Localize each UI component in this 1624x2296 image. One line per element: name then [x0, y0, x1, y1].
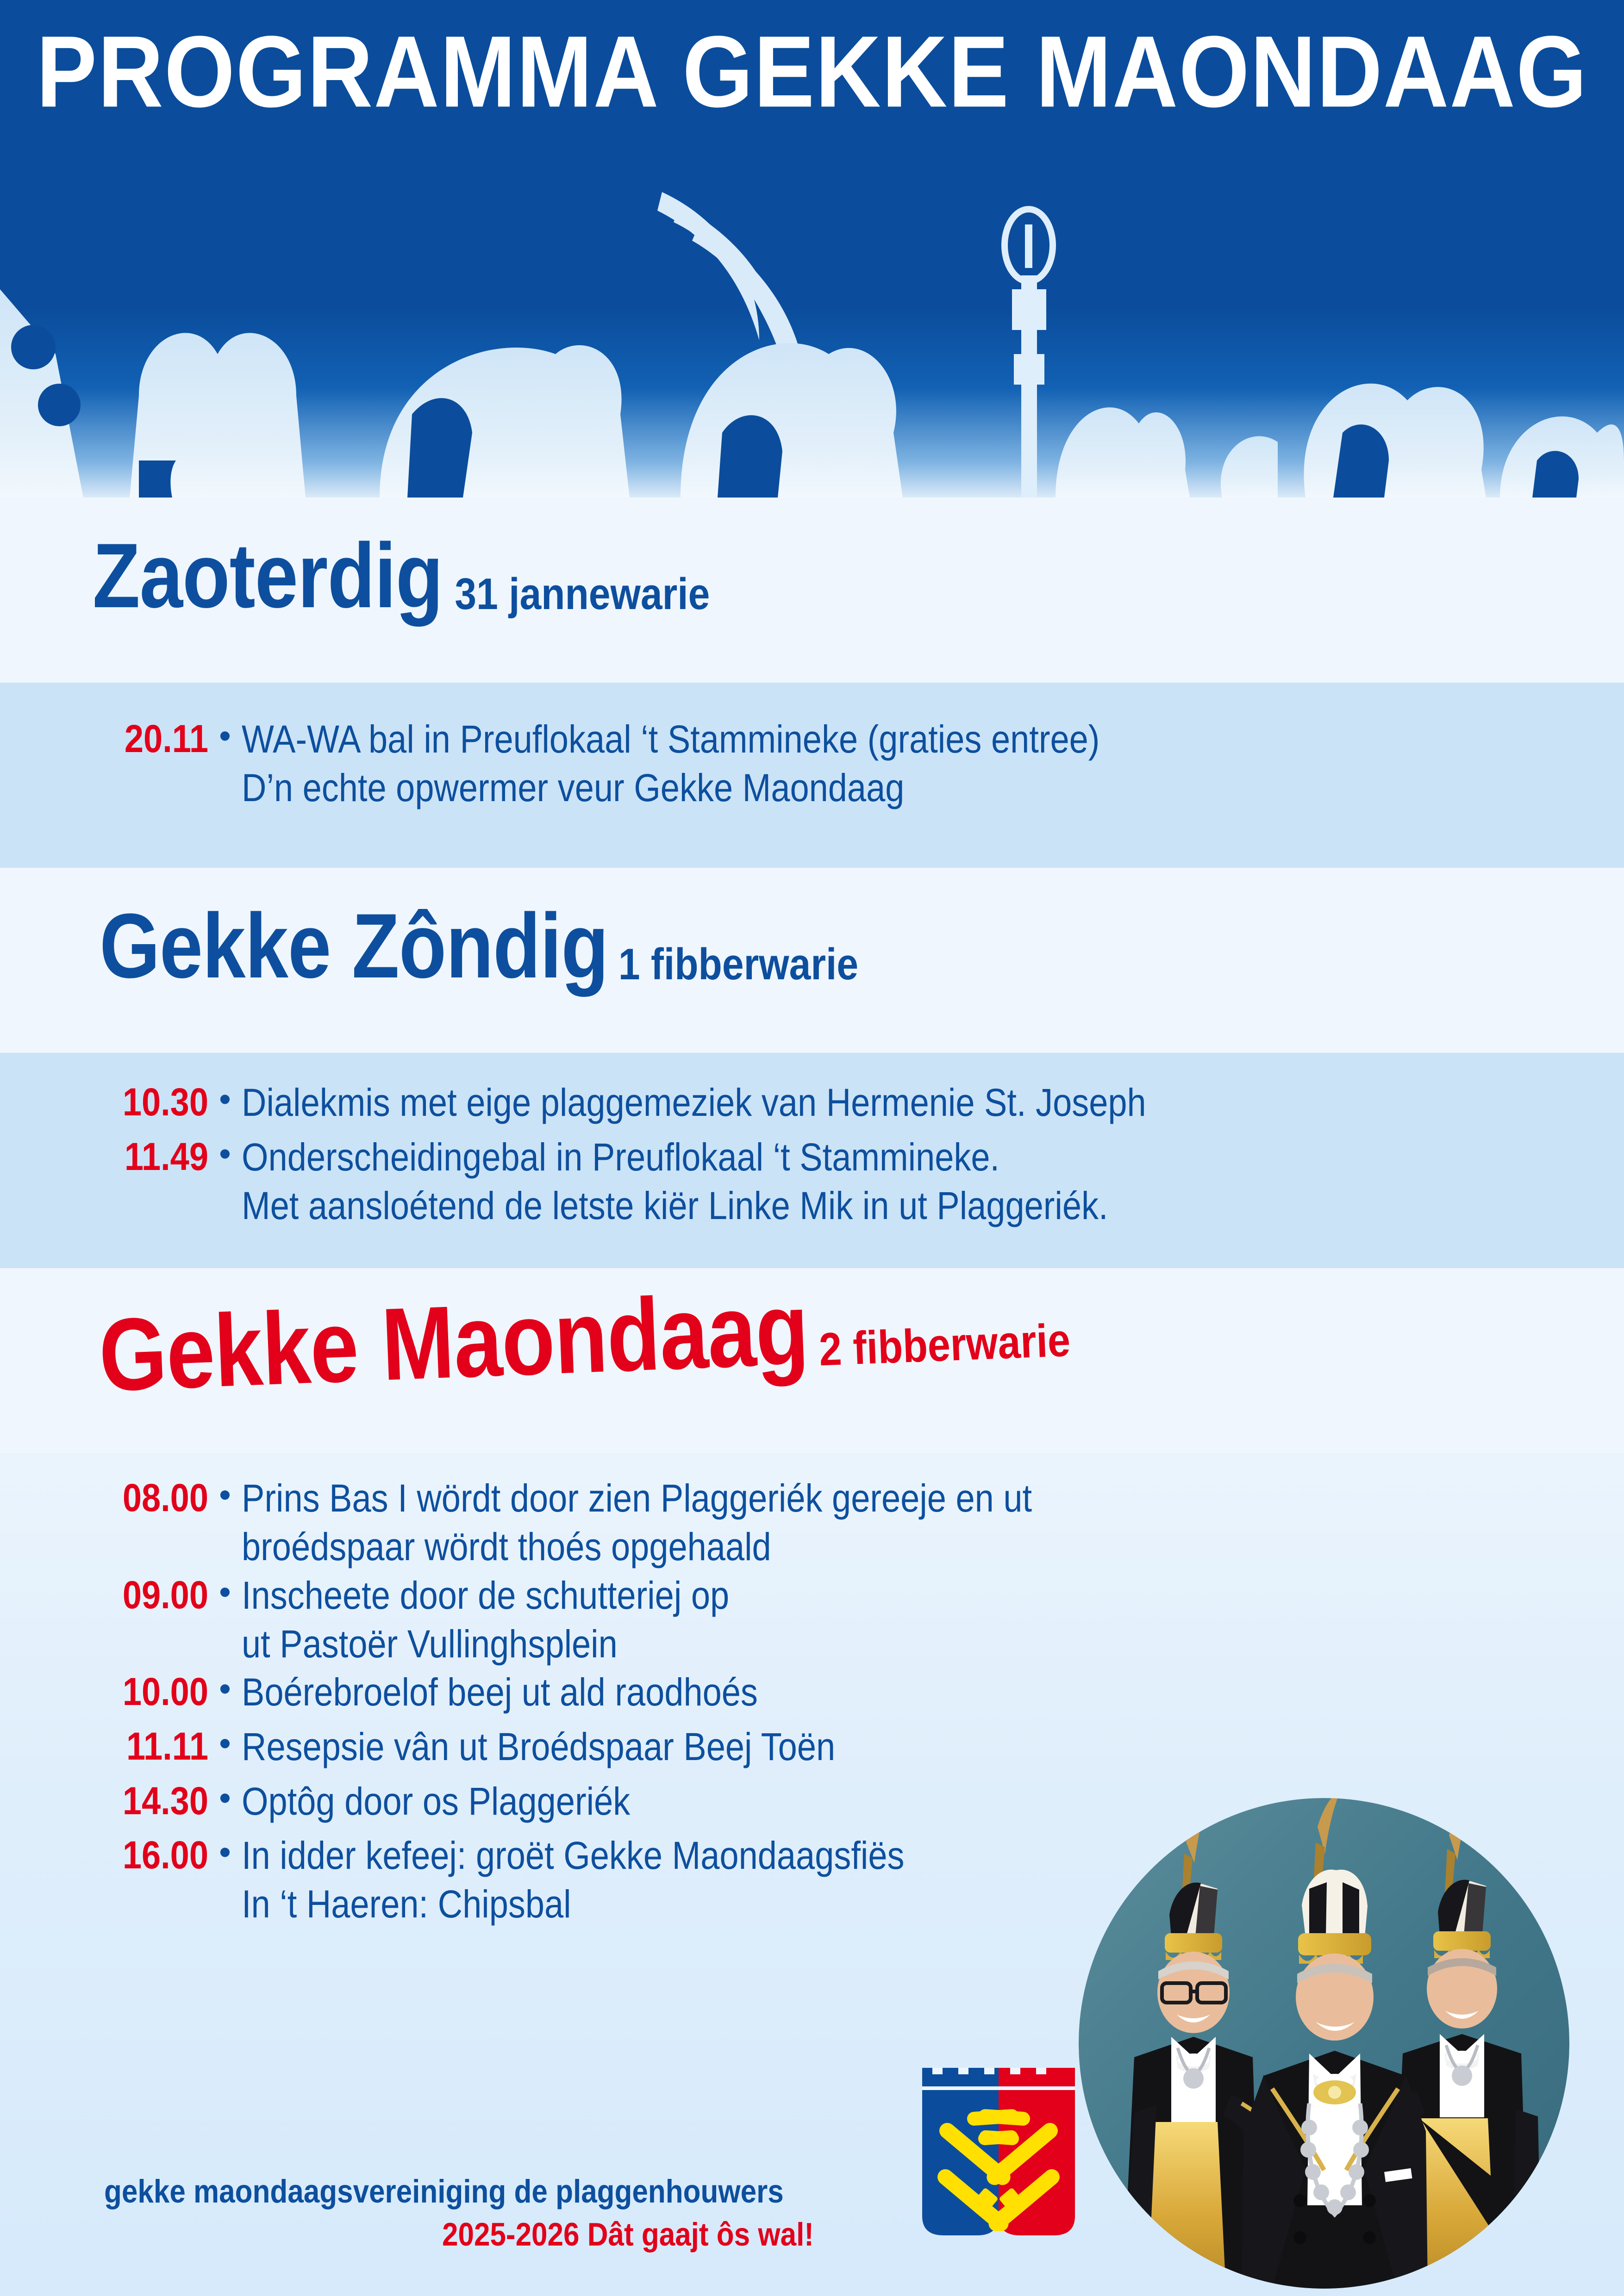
- event-line: broédspaar wördt thoés opgehaald: [242, 1523, 1032, 1571]
- season-slogan: 2025-2026 Dât gaajt ôs wal!: [442, 2216, 814, 2253]
- events-maondaag: 08.00 • Prins Bas I wördt door zien Plag…: [93, 1474, 1032, 1929]
- plaggenhouwers-coat-of-arms: [922, 2068, 1075, 2244]
- prince-trio-illustration: [1079, 1798, 1569, 2289]
- carnival-hats-silhouette-icon: [0, 137, 1624, 498]
- event-time: 16.00: [93, 1831, 208, 1879]
- section-date: 1 fibberwarie: [618, 939, 858, 990]
- poster-root: PROGRAMMA GEKKE MAONDAAG Zaoterdig31 jan…: [0, 0, 1624, 2296]
- event-row: 14.30 • Optôg door os Plaggeriék: [93, 1777, 1032, 1820]
- event-text: Inscheete door de schutteriej op ut Past…: [242, 1571, 729, 1668]
- event-row: 16.00 • In idder kefeej: groët Gekke Mao…: [93, 1831, 1032, 1916]
- event-row: 08.00 • Prins Bas I wördt door zien Plag…: [93, 1474, 1032, 1559]
- event-row: 09.00 • Inscheete door de schutteriej op…: [93, 1571, 1032, 1656]
- bullet-icon: •: [208, 1831, 242, 1873]
- event-line: Inscheete door de schutteriej op: [242, 1571, 729, 1620]
- bullet-icon: •: [208, 1571, 242, 1613]
- section-day-name: Zaoterdig: [93, 523, 443, 628]
- section-heading-zaoterdig: Zaoterdig31 jannewarie: [93, 539, 710, 628]
- event-line: Prins Bas I wördt door zien Plaggeriék g…: [242, 1474, 1032, 1523]
- poster-header: PROGRAMMA GEKKE MAONDAAG: [0, 0, 1624, 498]
- event-line: Optôg door os Plaggeriék: [242, 1777, 630, 1826]
- bullet-icon: •: [208, 1474, 242, 1516]
- event-line: Boérebroelof beej ut ald raodhoés: [242, 1668, 758, 1717]
- event-text: In idder kefeej: groët Gekke Maondaagsfi…: [242, 1831, 905, 1928]
- event-row: 11.11 • Resepsie vân ut Broédspaar Beej …: [93, 1723, 1032, 1765]
- event-text: Optôg door os Plaggeriék: [242, 1777, 630, 1826]
- event-time: 14.30: [93, 1777, 208, 1825]
- event-time: 08.00: [93, 1474, 208, 1522]
- poster-footer: gekke maondaagsvereiniging de plaggenhou…: [104, 2173, 814, 2249]
- event-time: 10.00: [93, 1668, 208, 1716]
- event-text: Onderscheidingebal in Preuflokaal ‘t Sta…: [242, 1133, 1108, 1230]
- event-text: Resepsie vân ut Broédspaar Beej Toën: [242, 1723, 835, 1771]
- event-text: Prins Bas I wördt door zien Plaggeriék g…: [242, 1474, 1032, 1571]
- section-date: 2 fibberwarie: [818, 1313, 1071, 1376]
- event-line: Met aansloétend de letste kiër Linke Mik…: [242, 1181, 1108, 1230]
- event-text: WA-WA bal in Preuflokaal ‘t Stammineke (…: [242, 715, 1099, 812]
- event-line: Resepsie vân ut Broédspaar Beej Toën: [242, 1723, 835, 1771]
- bullet-icon: •: [208, 1133, 242, 1175]
- event-time: 09.00: [93, 1571, 208, 1619]
- event-time: 10.30: [93, 1078, 208, 1126]
- section-heading-zondig: Gekke Zôndig1 fibberwarie: [100, 909, 858, 999]
- events-zaoterdig: 20.11 • WA-WA bal in Preuflokaal ‘t Stam…: [93, 715, 1099, 812]
- event-line: WA-WA bal in Preuflokaal ‘t Stammineke (…: [242, 715, 1099, 764]
- event-line: D’n echte opwermer veur Gekke Maondaag: [242, 764, 1099, 812]
- event-time: 11.49: [93, 1133, 208, 1181]
- event-time: 11.11: [93, 1723, 208, 1770]
- page-title: PROGRAMMA GEKKE MAONDAAG: [0, 19, 1624, 125]
- bullet-icon: •: [208, 1777, 242, 1819]
- event-row: 20.11 • WA-WA bal in Preuflokaal ‘t Stam…: [93, 715, 1099, 800]
- bullet-icon: •: [208, 715, 242, 757]
- prince-trio-photo: [1079, 1798, 1569, 2289]
- bullet-icon: •: [208, 1078, 242, 1120]
- event-line: Onderscheidingebal in Preuflokaal ‘t Sta…: [242, 1133, 1108, 1182]
- event-line: Dialekmis met eige plaggemeziek van Herm…: [242, 1078, 1146, 1127]
- section-day-name: Gekke Zôndig: [100, 893, 608, 999]
- event-line: In ‘t Haeren: Chipsbal: [242, 1880, 905, 1929]
- event-line: ut Pastoër Vullinghsplein: [242, 1619, 729, 1668]
- event-text: Boérebroelof beej ut ald raodhoés: [242, 1668, 758, 1717]
- event-row: 10.00 • Boérebroelof beej ut ald raodhoé…: [93, 1668, 1032, 1711]
- coat-of-arms-icon: [922, 2068, 1075, 2244]
- event-line: In idder kefeej: groët Gekke Maondaagsfi…: [242, 1831, 905, 1880]
- event-time: 20.11: [93, 715, 208, 763]
- events-zondig: 10.30 • Dialekmis met eige plaggemeziek …: [93, 1078, 1146, 1230]
- event-row: 10.30 • Dialekmis met eige plaggemeziek …: [93, 1078, 1146, 1121]
- event-text: Dialekmis met eige plaggemeziek van Herm…: [242, 1078, 1146, 1127]
- bullet-icon: •: [208, 1668, 242, 1710]
- event-row: 11.49 • Onderscheidingebal in Preuflokaa…: [93, 1133, 1146, 1218]
- bullet-icon: •: [208, 1723, 242, 1764]
- organisation-name: gekke maondaagsvereiniging de plaggenhou…: [104, 2173, 814, 2210]
- section-date: 31 jannewarie: [455, 568, 710, 620]
